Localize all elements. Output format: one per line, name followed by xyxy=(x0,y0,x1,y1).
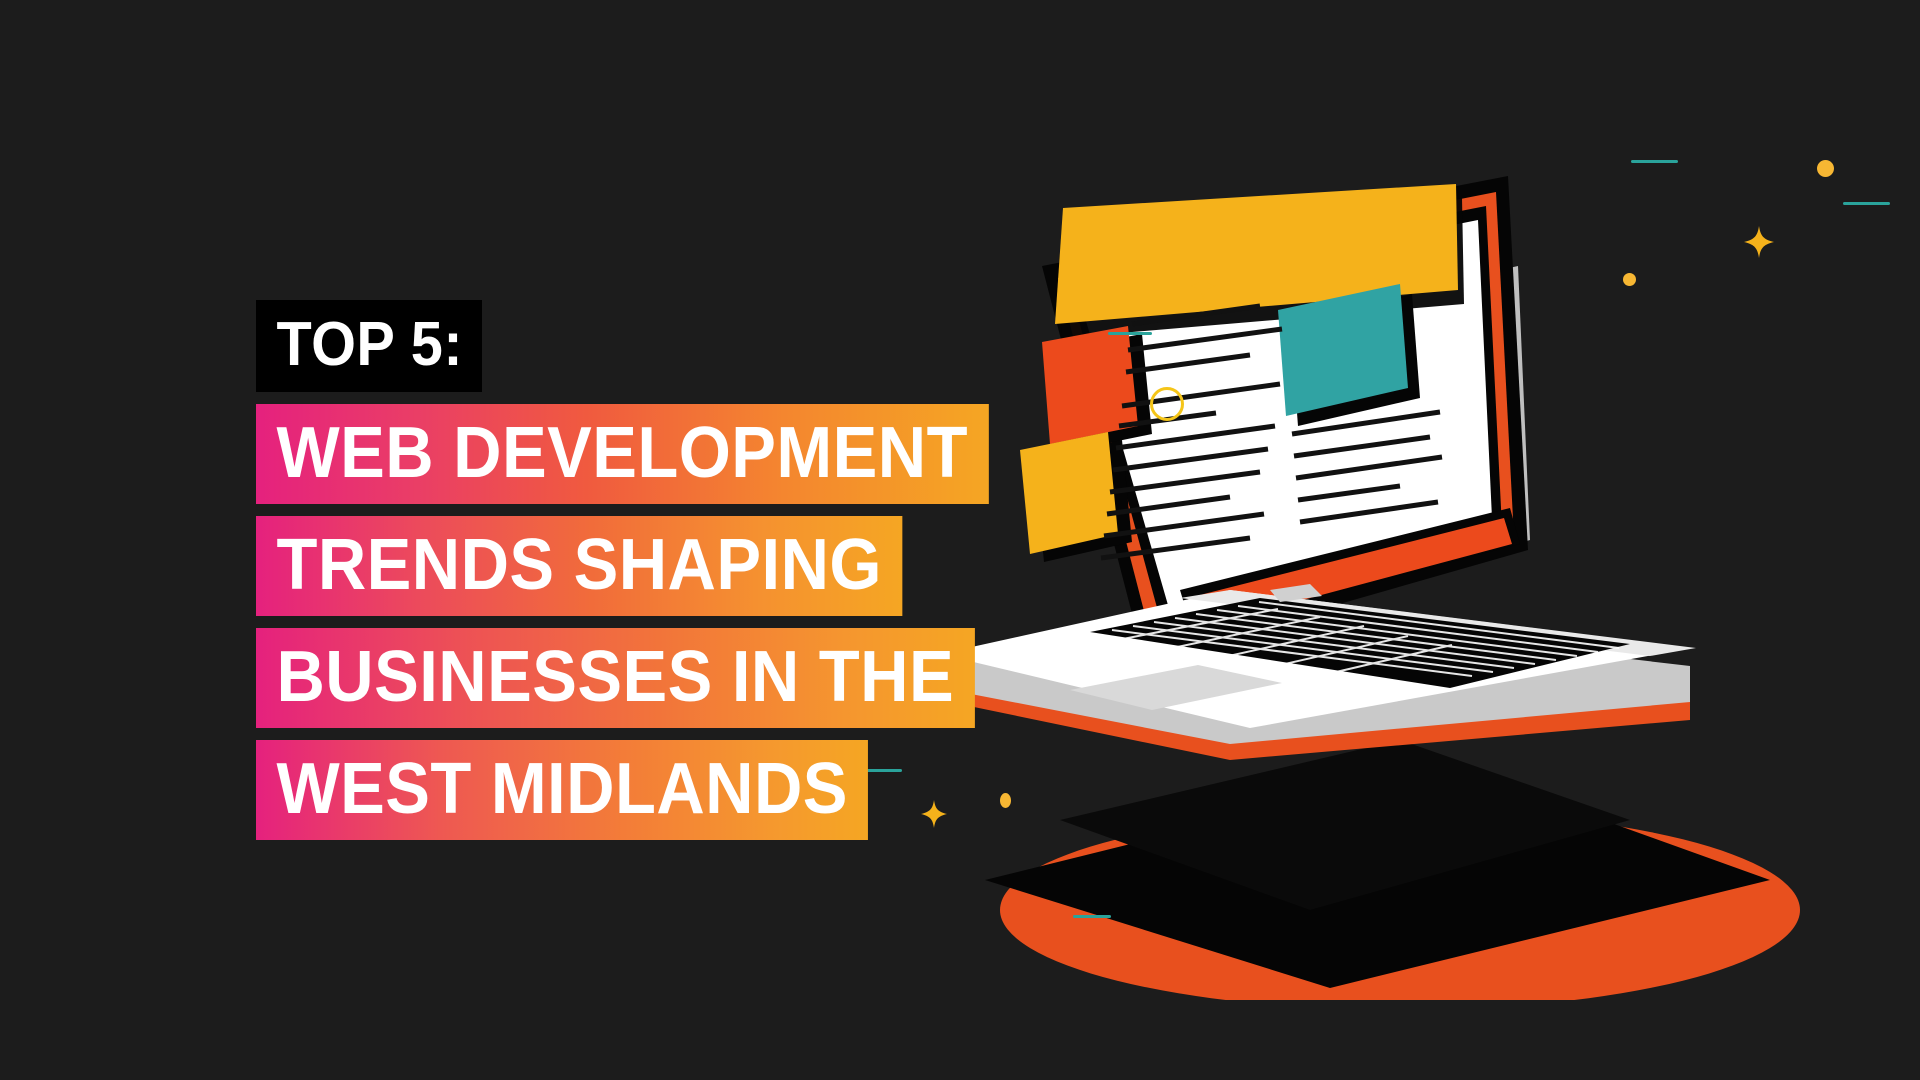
yellow-ring-icon xyxy=(1150,387,1184,421)
sparkle-icon xyxy=(1190,272,1216,300)
accent-block-orange xyxy=(1042,326,1152,452)
headline-line-1: WEB DEVELOPMENT xyxy=(256,404,988,504)
teal-dash-icon xyxy=(1108,332,1152,335)
headline-line-4: WEST MIDLANDS xyxy=(256,740,868,840)
teal-dash-icon xyxy=(1073,915,1111,918)
yellow-dot-icon xyxy=(1817,160,1834,177)
teal-dash-icon xyxy=(1631,160,1678,163)
sparkle-icon xyxy=(1744,226,1774,258)
headline-line-3: BUSINESSES IN THE xyxy=(256,628,975,728)
banner-canvas: TOP 5: WEB DEVELOPMENT TRENDS SHAPING BU… xyxy=(0,0,1920,1080)
headline-block: TOP 5: WEB DEVELOPMENT TRENDS SHAPING BU… xyxy=(256,300,1044,840)
teal-dash-icon xyxy=(1843,202,1890,205)
eyebrow-label: TOP 5: xyxy=(256,300,482,392)
headline-line-2: TRENDS SHAPING xyxy=(256,516,902,616)
yellow-dot-icon xyxy=(1623,273,1636,286)
